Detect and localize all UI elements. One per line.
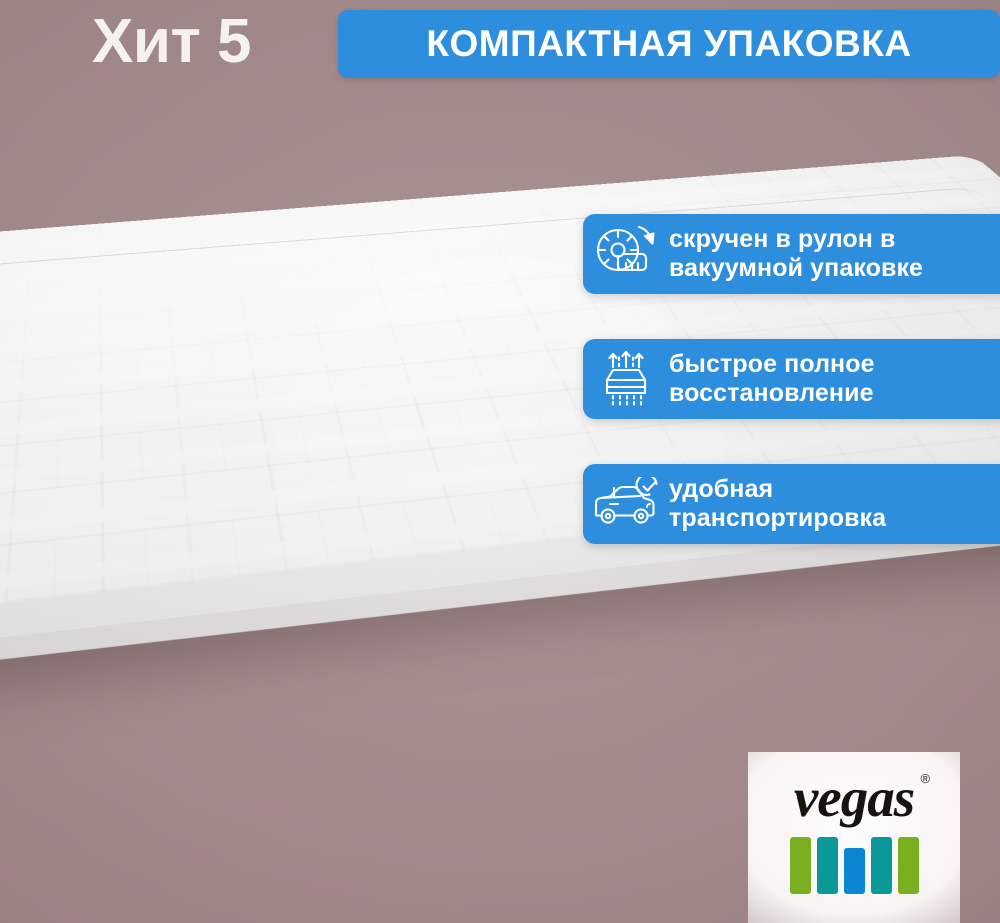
brand-bar [871,837,892,894]
brand-wordmark: vegas ® [794,770,914,825]
feature-line-1: скручен в рулон в [669,225,923,255]
feature-badge-easy-transport: удобная транспортировка [583,464,1000,544]
page-title: Хит 5 [92,8,251,76]
feature-badge-text: скручен в рулон в вакуумной упаковке [669,225,923,284]
brand-bars [790,837,919,894]
feature-line-2: восстановление [669,379,875,409]
brand-bar [898,837,919,894]
feature-line-1: быстрое полное [669,350,875,380]
product-image-canvas: Хит 5 КОМПАКТНАЯ УПАКОВКА скручен в руло… [0,0,1000,923]
feature-line-2: транспортировка [669,504,886,534]
brand-bar [790,837,811,894]
car-check-icon [583,464,669,544]
feature-line-2: вакуумной упаковке [669,254,923,284]
compact-packaging-banner: КОМПАКТНАЯ УПАКОВКА [338,10,1000,78]
brand-bar [844,848,865,894]
feature-badge-text: удобная транспортировка [669,475,886,534]
feature-line-1: удобная [669,475,886,505]
feature-badge-fast-recovery: быстрое полное восстановление [583,339,1000,419]
registered-trademark-icon: ® [921,772,930,785]
brand-wordmark-text: vegas [794,767,914,828]
feature-badge-text: быстрое полное восстановление [669,350,875,409]
banner-label: КОМПАКТНАЯ УПАКОВКА [426,23,911,65]
rolled-mattress-icon [583,214,669,294]
mattress-expand-icon [583,339,669,419]
brand-bar [817,837,838,894]
feature-badge-rolled-packaging: скручен в рулон в вакуумной упаковке [583,214,1000,294]
brand-logo: vegas ® [748,752,960,923]
